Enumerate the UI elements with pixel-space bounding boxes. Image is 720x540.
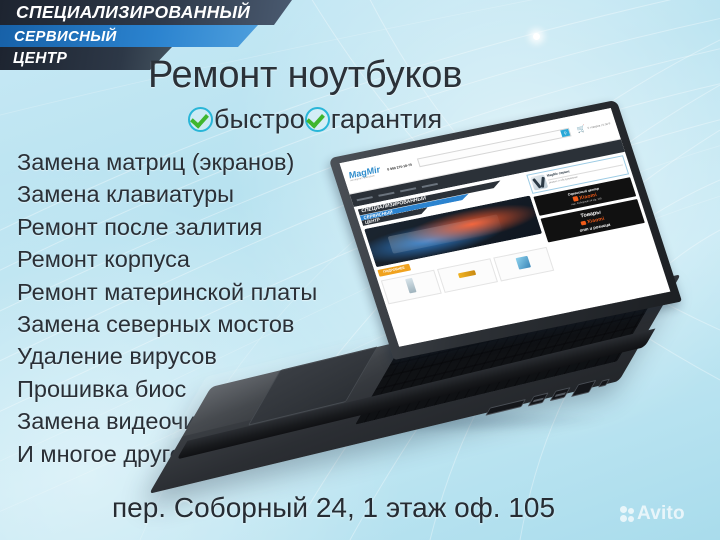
ribbon-line-1-label: СПЕЦИАЛИЗИРОВАННЫЙ [16,2,250,23]
ribbon-line-1: СПЕЦИАЛИЗИРОВАННЫЙ [0,0,292,25]
nav-item[interactable] [421,182,437,187]
badge-fast-label: быстро [214,104,305,135]
taskbar-clock: 12:48 [662,297,669,301]
avito-watermark-label: Avito [637,503,685,525]
xiaomi-logo-icon [573,196,579,201]
tools-icon [530,175,548,191]
ribbon-line-2-label: СЕРВИСНЫЙ [14,28,117,45]
avito-watermark: Avito [620,503,685,525]
xiaomi-logo-icon [581,221,587,226]
badge-warranty-label: гарантия [331,104,442,135]
lock-slot-icon [598,379,610,388]
product-thumbnail[interactable] [381,269,442,304]
ribbon-line-3-label: ЦЕНТР [13,50,67,68]
address-text: пер. Соборный 24, 1 этаж оф. 105 [112,492,555,524]
usb-port-icon [550,387,571,401]
laptop-screen: MagMir интернет-магазин 8 999 270-18-70 … [340,108,671,347]
guarantee-badges: быстро гарантия [188,104,442,135]
cart-widget[interactable]: 🛒 0 товаров / 0.00 Р [576,121,612,134]
avito-logo-icon [620,506,635,523]
vga-port-icon [571,379,596,396]
website-phone: 8 999 270-18-70 [387,163,413,172]
glow-dot [533,33,540,40]
laptop-illustration: MagMir интернет-магазин 8 999 270-18-70 … [180,150,680,470]
check-circle-icon [305,107,330,132]
taskbar-icon[interactable] [656,299,660,302]
page-title: Ремонт ноутбуков [148,54,568,97]
product-thumbnail[interactable] [437,258,498,293]
product-thumbnail[interactable] [493,246,554,281]
usb-port-icon [528,392,549,406]
advertisement-banner: СПЕЦИАЛИЗИРОВАННЫЙ СЕРВИСНЫЙ ЦЕНТР Ремон… [0,0,720,540]
ribbon-line-3: ЦЕНТР [0,47,172,70]
taskbar-icon[interactable] [650,300,654,303]
search-icon[interactable]: ⚲ [560,129,570,137]
cart-label: 0 товаров / 0.00 Р [587,122,611,130]
check-circle-icon [188,107,213,132]
sd-card-slot-icon [486,398,527,415]
nav-item[interactable] [378,191,394,196]
ribbon-line-2: СЕРВИСНЫЙ [0,25,258,47]
nav-item[interactable] [356,196,372,201]
taskbar-icon[interactable] [644,302,648,305]
shopping-cart-icon: 🛒 [576,126,587,134]
website-logo[interactable]: MagMir интернет-магазин [348,166,383,183]
nav-item[interactable] [400,187,416,192]
